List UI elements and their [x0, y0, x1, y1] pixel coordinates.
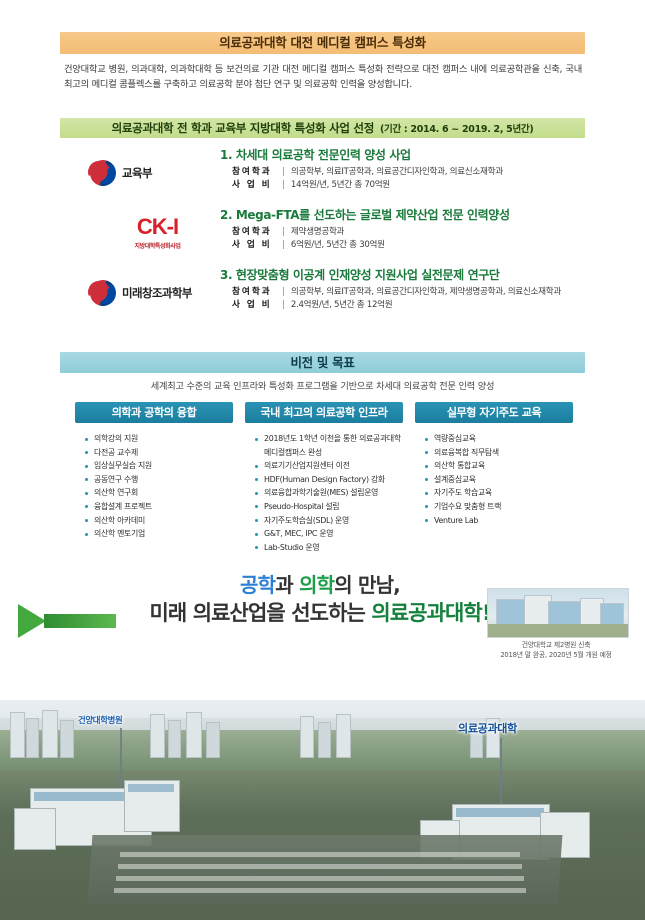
- list-item: 의산학 아카데미: [85, 514, 233, 528]
- list-item: 임상실무실습 지원: [85, 459, 233, 473]
- ck-1-logo: CK-I 지방대학특성화사업: [90, 210, 225, 256]
- column-title: 의학과 공학의 융합: [75, 402, 233, 423]
- list-item: Venture Lab: [425, 514, 573, 528]
- program-title-text: Mega-FTA를 선도하는 글로벌 제약산업 전문 인력양성: [236, 208, 510, 222]
- program-dept-row: 참여학과 | 의공학부, 의료IT공학과, 의료공간디자인학과, 의료신소재학과: [232, 166, 585, 179]
- photo-label-hospital: 건양대학병원: [78, 714, 122, 726]
- taegeuk-icon: [90, 160, 116, 186]
- program-budget-label: 사 업 비: [232, 179, 280, 192]
- selection-period: (기간 : 2014. 6 ~ 2019. 2, 5년간): [380, 124, 533, 135]
- list-item: G&T, MEC, IPC 운영: [255, 527, 403, 541]
- program-title-text: 차세대 의료공학 전문인력 양성 사업: [236, 148, 411, 162]
- slogan-medicine-word: 의학: [299, 573, 334, 597]
- aerial-campus-photo: 건양대학병원 의료공과대학: [0, 700, 645, 920]
- new-hospital-caption-line2: 2018년 말 완공, 2020년 5월 개원 예정: [470, 650, 642, 660]
- list-item: 융합설계 프로젝트: [85, 500, 233, 514]
- new-hospital-caption: 건양대학교 제2병원 신축 2018년 말 완공, 2020년 5월 개원 예정: [470, 640, 642, 660]
- list-item: HDF(Human Design Factory) 강화: [255, 473, 403, 487]
- slogan-line2-lead: 미래 의료산업을 선도하는: [149, 601, 371, 625]
- separator: |: [282, 226, 285, 239]
- leader-line-hospital: [120, 728, 122, 788]
- program-number: 3.: [220, 268, 232, 282]
- program-title: 2. Mega-FTA를 선도하는 글로벌 제약산업 전문 인력양성: [220, 206, 585, 223]
- program-dept-row: 참여학과 | 의공학부, 의료IT공학과, 의료공간디자인학과, 제약생명공학과…: [232, 286, 585, 299]
- program-dept-label: 참여학과: [232, 226, 280, 239]
- program-dept-row: 참여학과 | 제약생명공학과: [232, 226, 585, 239]
- separator: |: [282, 166, 285, 179]
- ck-1-logo-label: CK-I: [137, 214, 178, 239]
- list-item: 의료융합과학기술원(MES) 설립운영: [255, 486, 403, 500]
- list-item: 의산학 연구회: [85, 486, 233, 500]
- program-logo-label: 미래창조과학부: [122, 285, 192, 301]
- vision-subtitle: 세계최고 수준의 교육 인프라와 특성화 프로그램을 기반으로 차세대 의료공학…: [60, 378, 585, 392]
- separator: |: [282, 239, 285, 252]
- list-item: 기업수요 맞춤형 트랙: [425, 500, 573, 514]
- column-list: 의학강의 지원 다전공 교수제 임상실무실습 지원 공동연구 수행 의산학 연구…: [75, 432, 233, 541]
- program-body: 2. Mega-FTA를 선도하는 글로벌 제약산업 전문 인력양성 참여학과 …: [220, 206, 585, 253]
- program-budget-row: 사 업 비 | 6억원/년, 5년간 총 30억원: [232, 239, 585, 252]
- list-item: Lab-Studio 운영: [255, 541, 403, 555]
- slogan-line1-tail: 의 만남,: [334, 573, 400, 597]
- separator: |: [282, 179, 285, 192]
- program-body: 3. 현장맞춤형 이공계 인재양성 지원사업 실전문제 연구단 참여학과 | 의…: [220, 266, 585, 313]
- ministry-of-education-logo: 교육부: [90, 150, 225, 196]
- vision-column-infrastructure: 국내 최고의 의료공학 인프라 2018년도 1학년 이천을 통한 의료공과대학…: [245, 402, 403, 554]
- program-dept-value: 제약생명공학과: [291, 226, 344, 239]
- vision-banner: 비전 및 목표: [60, 352, 585, 373]
- list-item: 의료융복합 직무탐색: [425, 446, 573, 460]
- program-title: 3. 현장맞춤형 이공계 인재양성 지원사업 실전문제 연구단: [220, 266, 585, 283]
- slogan-line-1: 공학과 의학의 만남,: [110, 572, 530, 599]
- program-title: 1. 차세대 의료공학 전문인력 양성 사업: [220, 146, 585, 163]
- column-title: 국내 최고의 의료공학 인프라: [245, 402, 403, 423]
- vision-column-self-directed: 실무형 자기주도 교육 역량중심교육 의료융복합 직무탐색 의산학 통합교육 설…: [415, 402, 573, 554]
- list-item: 역량중심교육: [425, 432, 573, 446]
- slogan-line-2: 미래 의료산업을 선도하는 의료공과대학!: [110, 599, 530, 627]
- separator: |: [282, 299, 285, 312]
- list-item: 공동연구 수행: [85, 473, 233, 487]
- program-budget-row: 사 업 비 | 14억원/년, 5년간 총 70억원: [232, 179, 585, 192]
- green-arrow-icon: [18, 604, 46, 638]
- photo-label-college: 의료공과대학: [458, 720, 517, 736]
- program-budget-value: 14억원/년, 5년간 총 70억원: [291, 179, 390, 192]
- program-budget-row: 사 업 비 | 2.4억원/년, 5년간 총 12억원: [232, 299, 585, 312]
- intro-paragraph: 건양대학교 병원, 의과대학, 의과학대학 등 보건의료 기관 대전 메디컬 캠…: [64, 62, 582, 92]
- list-item: 자기주도 학습교육: [425, 486, 573, 500]
- ck-1-logo-sublabel: 지방대학특성화사업: [90, 241, 225, 250]
- program-item: CK-I 지방대학특성화사업 2. Mega-FTA를 선도하는 글로벌 제약산…: [60, 206, 585, 266]
- slogan-college-name: 의료공과대학!: [371, 601, 490, 625]
- separator: |: [282, 286, 285, 299]
- new-hospital-caption-line1: 건양대학교 제2병원 신축: [470, 640, 642, 650]
- list-item: 다전공 교수제: [85, 446, 233, 460]
- vision-column-convergence: 의학과 공학의 융합 의학강의 지원 다전공 교수제 임상실무실습 지원 공동연…: [75, 402, 233, 554]
- program-number: 2.: [220, 208, 232, 222]
- program-budget-label: 사 업 비: [232, 299, 280, 312]
- leader-line-college: [500, 738, 502, 804]
- header-banner-title: 의료공과대학 대전 메디컬 캠퍼스 특성화: [219, 35, 426, 50]
- list-item: 자기주도학습실(SDL) 운영: [255, 514, 403, 528]
- column-list: 역량중심교육 의료융복합 직무탐색 의산학 통합교육 설계중심교육 자기주도 학…: [415, 432, 573, 527]
- program-logo-label: 교육부: [122, 165, 152, 181]
- ministry-of-science-logo: 미래창조과학부: [90, 270, 225, 316]
- slogan-block: 공학과 의학의 만남, 미래 의료산업을 선도하는 의료공과대학!: [110, 572, 530, 627]
- list-item: 의산학 멘토기업: [85, 527, 233, 541]
- new-hospital-photo: [487, 588, 629, 638]
- program-number: 1.: [220, 148, 232, 162]
- program-body: 1. 차세대 의료공학 전문인력 양성 사업 참여학과 | 의공학부, 의료IT…: [220, 146, 585, 193]
- list-item: 의료기기산업지원센터 이전: [255, 459, 403, 473]
- column-list: 2018년도 1학년 이천을 통한 의료공과대학 메디컬캠퍼스 완성 의료기기산…: [245, 432, 403, 554]
- program-list: 교육부 1. 차세대 의료공학 전문인력 양성 사업 참여학과 | 의공학부, …: [60, 146, 585, 326]
- program-title-text: 현장맞춤형 이공계 인재양성 지원사업 실전문제 연구단: [236, 268, 500, 282]
- program-dept-label: 참여학과: [232, 166, 280, 179]
- program-item: 미래창조과학부 3. 현장맞춤형 이공계 인재양성 지원사업 실전문제 연구단 …: [60, 266, 585, 326]
- list-item: 의학강의 지원: [85, 432, 233, 446]
- program-item: 교육부 1. 차세대 의료공학 전문인력 양성 사업 참여학과 | 의공학부, …: [60, 146, 585, 206]
- vision-columns: 의학과 공학의 융합 의학강의 지원 다전공 교수제 임상실무실습 지원 공동연…: [75, 402, 575, 554]
- list-item: Pseudo-Hospital 설립: [255, 500, 403, 514]
- program-dept-value: 의공학부, 의료IT공학과, 의료공간디자인학과, 제약생명공학과, 의료신소재…: [291, 286, 561, 299]
- poster-page: 의료공과대학 대전 메디컬 캠퍼스 특성화 건양대학교 병원, 의과대학, 의과…: [0, 0, 645, 920]
- program-budget-value: 6억원/년, 5년간 총 30억원: [291, 239, 385, 252]
- list-item: 설계중심교육: [425, 473, 573, 487]
- selection-banner: 의료공과대학 전 학과 교육부 지방대학 특성화 사업 선정(기간 : 2014…: [60, 118, 585, 138]
- column-title: 실무형 자기주도 교육: [415, 402, 573, 423]
- program-budget-value: 2.4억원/년, 5년간 총 12억원: [291, 299, 392, 312]
- program-budget-label: 사 업 비: [232, 239, 280, 252]
- selection-banner-title: 의료공과대학 전 학과 교육부 지방대학 특성화 사업 선정: [112, 121, 374, 135]
- list-item: 의산학 통합교육: [425, 459, 573, 473]
- list-item: 2018년도 1학년 이천을 통한 의료공과대학 메디컬캠퍼스 완성: [255, 432, 403, 459]
- program-dept-value: 의공학부, 의료IT공학과, 의료공간디자인학과, 의료신소재학과: [291, 166, 503, 179]
- program-dept-label: 참여학과: [232, 286, 280, 299]
- slogan-engineering-word: 공학: [240, 573, 275, 597]
- vision-banner-title: 비전 및 목표: [290, 355, 354, 370]
- taegeuk-icon: [90, 280, 116, 306]
- header-banner: 의료공과대학 대전 메디컬 캠퍼스 특성화: [60, 32, 585, 54]
- slogan-line1-conj: 과: [275, 573, 299, 597]
